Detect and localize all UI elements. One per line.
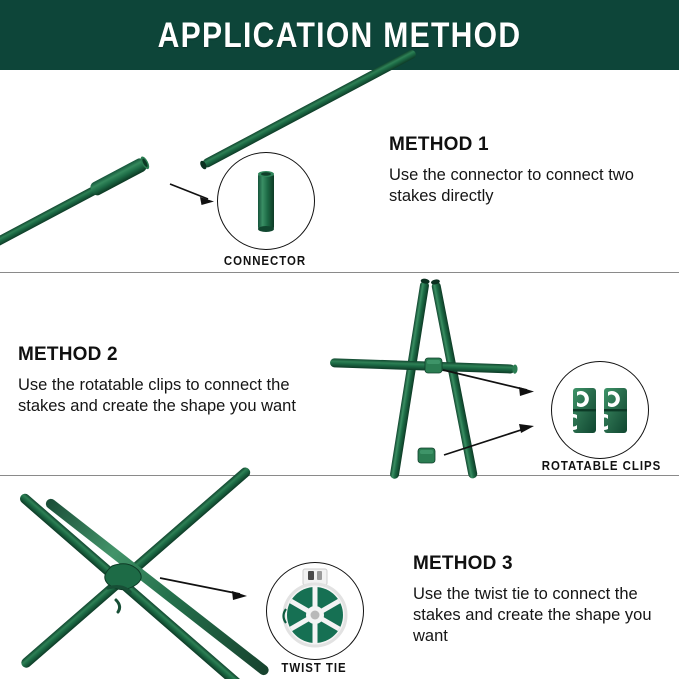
method-1-arrow [170,184,214,205]
method-2-arrow-upper [443,370,534,396]
method-3-title: METHOD 3 [413,553,513,575]
clip-upper [425,358,442,373]
method-2-arrow-lower [444,424,534,455]
method-3-illustration [18,465,271,679]
connector-callout-label: CONNECTOR [208,253,322,268]
method-1-description: Use the connector to connect two stakes … [389,165,674,207]
method-1-illustration [0,48,417,272]
page-title: APPLICATION METHOD [48,16,632,56]
method-3-arrow [160,578,247,600]
connector-callout [217,152,315,250]
rotatable-clips-callout [551,361,649,459]
method-1-title: METHOD 1 [389,134,489,156]
twist-tie-spool-icon [267,563,363,659]
twist-tie-callout-label: TWIST TIE [257,660,371,675]
rotatable-clips-callout-label: ROTATABLE CLIPS [542,458,656,473]
section-divider-1 [0,272,679,273]
rotatable-clips-icon [552,362,648,458]
connector-sleeve-icon [218,153,314,249]
twist-tie-wrap [105,564,141,612]
method-2-illustration [330,278,534,479]
method-2-title: METHOD 2 [18,344,118,366]
header-banner: APPLICATION METHOD [0,0,679,70]
clip-lower [418,448,435,463]
infographic-page: APPLICATION METHOD [0,0,679,679]
method-3-description: Use the twist tie to connect the stakes … [413,584,671,647]
section-divider-2 [0,475,679,476]
method-2-description: Use the rotatable clips to connect the s… [18,375,318,417]
twist-tie-callout [266,562,364,660]
